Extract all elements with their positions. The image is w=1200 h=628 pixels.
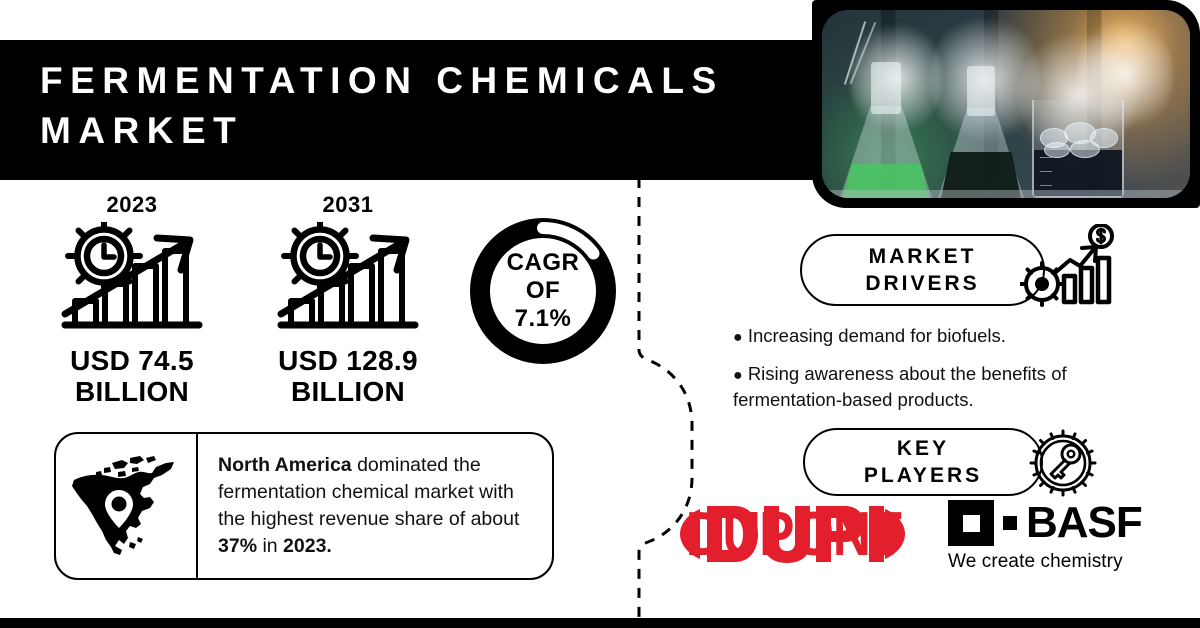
stat-block-2023: 2023	[42, 192, 222, 407]
region-share: 37%	[218, 535, 257, 557]
market-drivers-line-2: DRIVERS	[865, 270, 979, 297]
north-america-map-pin-icon	[56, 434, 198, 578]
bench-surface	[822, 190, 1190, 198]
list-item: ● Rising awareness about the benefits of…	[733, 362, 1113, 412]
foam-bubble	[1070, 140, 1100, 158]
region-year: 2023.	[283, 535, 332, 557]
erlenmeyer-flask-green	[840, 62, 932, 198]
beaker-with-foam	[1032, 100, 1124, 198]
logo-basf: BASF We create chemistry	[948, 500, 1148, 578]
region-text-in: in	[257, 535, 283, 557]
basf-dot-icon	[1003, 516, 1017, 530]
stat-year: 2031	[253, 192, 443, 218]
growth-chart-clock-gear-icon	[253, 222, 443, 339]
key-players-heading-text: KEY PLAYERS	[864, 435, 982, 489]
cagr-donut: CAGR OF 7.1%	[466, 214, 620, 368]
hero-image-frame	[812, 0, 1200, 208]
list-item-text: Rising awareness about the benefits of f…	[733, 363, 1067, 410]
infographic-page: FERMENTATION CHEMICALS MARKET	[0, 0, 1200, 628]
list-item: ● Increasing demand for biofuels.	[733, 324, 1113, 350]
growth-gear-dollar-icon	[1020, 224, 1118, 310]
foam-bubble	[1044, 142, 1070, 158]
cagr-line-1: CAGR	[507, 249, 580, 277]
key-players-heading: KEY PLAYERS	[803, 428, 1043, 496]
page-title: FERMENTATION CHEMICALS MARKET	[40, 56, 800, 156]
cagr-label: CAGR OF 7.1%	[466, 214, 620, 368]
market-drivers-heading: MARKET DRIVERS	[800, 234, 1045, 306]
cagr-line-3: 7.1%	[515, 305, 572, 333]
key-gear-icon	[1025, 425, 1101, 501]
region-name: North America	[218, 454, 352, 476]
list-item-text: Increasing demand for biofuels.	[748, 325, 1006, 346]
basf-square-icon	[948, 500, 994, 546]
market-drivers-list: ● Increasing demand for biofuels. ● Risi…	[733, 324, 1113, 424]
bullet-dot-icon: ●	[733, 367, 743, 384]
region-card-text: North America dominated the fermentation…	[198, 434, 552, 578]
basf-mark: BASF	[948, 500, 1148, 546]
cagr-line-2: OF	[526, 277, 560, 305]
hero-image-lab-flasks	[822, 10, 1190, 198]
market-drivers-line-1: MARKET	[865, 243, 979, 270]
dupont-wordmark: DUPONT	[700, 502, 886, 566]
beaker-graduation	[1040, 185, 1052, 186]
erlenmeyer-flask-dark	[938, 66, 1024, 198]
stat-value: USD 74.5 BILLION	[42, 345, 222, 407]
logo-dupont: DUPONT	[680, 498, 905, 570]
stat-year: 2023	[42, 192, 222, 218]
market-drivers-heading-text: MARKET DRIVERS	[865, 243, 979, 297]
key-players-line-2: PLAYERS	[864, 462, 982, 489]
beaker-graduation	[1040, 157, 1052, 158]
basf-tagline: We create chemistry	[948, 551, 1148, 573]
stat-block-2031: 2031	[253, 192, 443, 407]
region-card-paragraph: North America dominated the fermentation…	[218, 452, 538, 560]
key-players-line-1: KEY	[864, 435, 982, 462]
region-card: North America dominated the fermentation…	[54, 432, 554, 580]
bottom-bar	[0, 618, 1200, 628]
beaker-graduation	[1040, 171, 1052, 172]
growth-chart-clock-gear-icon	[42, 222, 222, 339]
bullet-dot-icon: ●	[733, 329, 743, 346]
stat-value: USD 128.9 BILLION	[253, 345, 443, 407]
basf-wordmark: BASF	[1026, 501, 1142, 545]
